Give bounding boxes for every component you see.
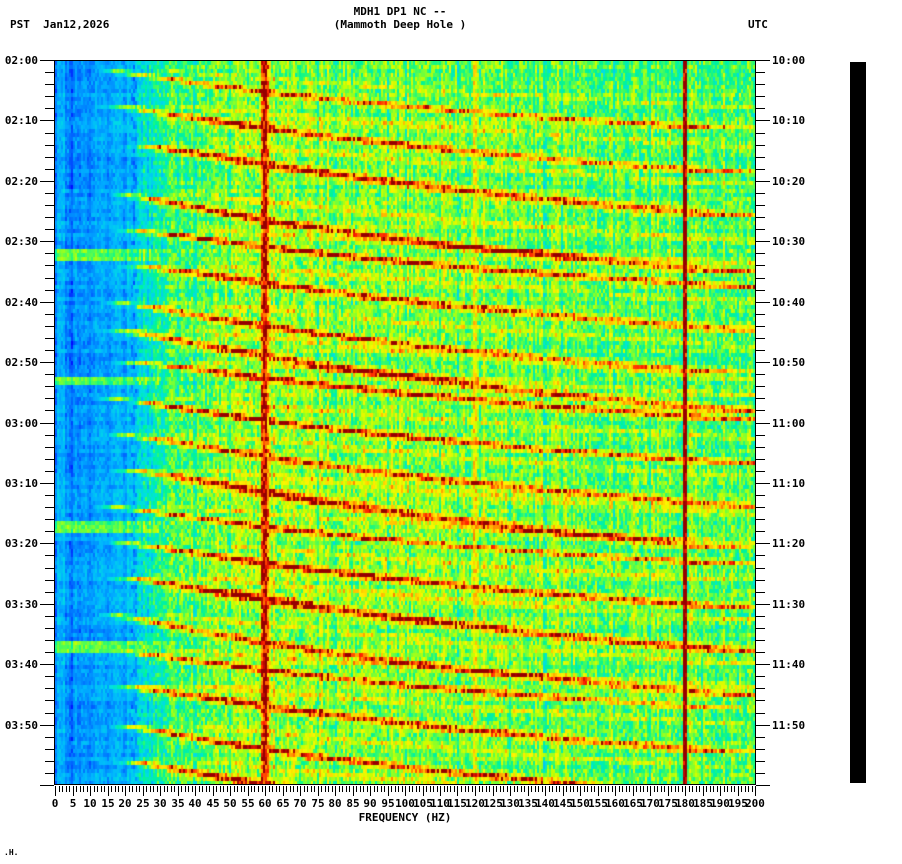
y-tick-minor-left (45, 773, 54, 774)
x-axis-label: 160 (605, 797, 625, 810)
y-tick-major-left (40, 785, 54, 786)
y-tick-minor-left (45, 338, 54, 339)
y-tick-minor-right (756, 326, 765, 327)
corner-mark: .H. (4, 849, 18, 857)
y-tick-major-left (40, 241, 54, 242)
x-axis-label: 70 (293, 797, 306, 810)
x-axis-label: 190 (710, 797, 730, 810)
y-tick-minor-right (756, 471, 765, 472)
x-tick-minor (377, 786, 378, 792)
x-tick-minor (566, 786, 567, 792)
x-axis-label: 40 (188, 797, 201, 810)
x-tick-major (493, 786, 494, 796)
y-tick-minor-left (45, 761, 54, 762)
y-axis-right-label: 11:30 (772, 599, 805, 610)
y-tick-minor-left (45, 278, 54, 279)
y-tick-major-left (40, 483, 54, 484)
x-tick-major (55, 786, 56, 796)
x-tick-major (405, 786, 406, 796)
y-tick-minor-right (756, 676, 765, 677)
y-tick-minor-left (45, 616, 54, 617)
x-tick-minor (531, 786, 532, 792)
y-tick-minor-right (756, 555, 765, 556)
x-tick-minor (486, 786, 487, 792)
x-tick-minor (80, 786, 81, 792)
x-tick-minor (304, 786, 305, 792)
x-tick-minor (559, 786, 560, 792)
x-tick-minor (727, 786, 728, 792)
x-tick-major (528, 786, 529, 796)
x-axis-label: 20 (118, 797, 131, 810)
x-tick-minor (101, 786, 102, 792)
x-tick-minor (87, 786, 88, 792)
y-tick-major-left (40, 120, 54, 121)
y-axis-right-label: 10:10 (772, 115, 805, 126)
x-tick-minor (136, 786, 137, 792)
y-tick-major-left (40, 725, 54, 726)
x-tick-minor (500, 786, 501, 792)
y-tick-minor-left (45, 652, 54, 653)
y-tick-minor-left (45, 628, 54, 629)
x-axis-label: 85 (346, 797, 359, 810)
x-tick-minor (542, 786, 543, 792)
x-tick-minor (584, 786, 585, 792)
y-tick-minor-right (756, 749, 765, 750)
x-tick-minor (496, 786, 497, 792)
x-tick-major (108, 786, 109, 796)
x-axis-label: 10 (83, 797, 96, 810)
x-tick-minor (381, 786, 382, 792)
y-tick-minor-left (45, 108, 54, 109)
y-axis-right-label: 11:00 (772, 418, 805, 429)
y-tick-minor-left (45, 410, 54, 411)
x-tick-minor (717, 786, 718, 792)
y-tick-minor-right (756, 410, 765, 411)
x-tick-minor (269, 786, 270, 792)
x-axis-label: 45 (206, 797, 219, 810)
x-tick-minor (139, 786, 140, 792)
y-axis-right-label: 11:20 (772, 538, 805, 549)
y-tick-minor-right (756, 531, 765, 532)
x-tick-minor (153, 786, 154, 792)
y-tick-major-right (756, 241, 770, 242)
x-tick-major (738, 786, 739, 796)
x-tick-minor (587, 786, 588, 792)
y-tick-major-right (756, 483, 770, 484)
y-tick-minor-left (45, 265, 54, 266)
x-axis-label: 0 (52, 797, 59, 810)
y-axis-left-label: 03:40 (0, 659, 38, 670)
x-tick-major (703, 786, 704, 796)
x-tick-minor (262, 786, 263, 792)
y-tick-minor-right (756, 314, 765, 315)
x-tick-minor (594, 786, 595, 792)
y-tick-minor-right (756, 217, 765, 218)
x-tick-minor (346, 786, 347, 792)
x-tick-major (283, 786, 284, 796)
y-tick-minor-left (45, 471, 54, 472)
y-axis-left-label: 03:30 (0, 599, 38, 610)
y-tick-minor-left (45, 253, 54, 254)
x-tick-minor (503, 786, 504, 792)
x-tick-minor (426, 786, 427, 792)
x-tick-minor (514, 786, 515, 792)
x-tick-minor (447, 786, 448, 792)
x-tick-major (125, 786, 126, 796)
x-tick-minor (363, 786, 364, 792)
x-tick-minor (489, 786, 490, 792)
y-tick-major-left (40, 604, 54, 605)
x-tick-minor (745, 786, 746, 792)
x-tick-minor (209, 786, 210, 792)
x-tick-minor (454, 786, 455, 792)
x-tick-minor (157, 786, 158, 792)
x-tick-major (160, 786, 161, 796)
x-tick-minor (66, 786, 67, 792)
y-tick-minor-right (756, 229, 765, 230)
x-tick-minor (591, 786, 592, 792)
y-axis-right-label: 10:20 (772, 176, 805, 187)
x-tick-major (580, 786, 581, 796)
x-tick-major (370, 786, 371, 796)
x-tick-major (143, 786, 144, 796)
x-tick-major (598, 786, 599, 796)
y-axis-left-label: 03:20 (0, 538, 38, 549)
x-tick-minor (573, 786, 574, 792)
y-tick-minor-left (45, 580, 54, 581)
x-tick-minor (622, 786, 623, 792)
y-tick-major-left (40, 423, 54, 424)
y-tick-minor-left (45, 737, 54, 738)
colorbar (850, 62, 866, 783)
x-tick-minor (430, 786, 431, 792)
x-tick-minor (167, 786, 168, 792)
y-tick-major-right (756, 785, 770, 786)
y-tick-major-right (756, 181, 770, 182)
x-tick-major (457, 786, 458, 796)
x-tick-minor (356, 786, 357, 792)
x-tick-minor (374, 786, 375, 792)
x-tick-minor (724, 786, 725, 792)
x-tick-minor (83, 786, 84, 792)
y-tick-minor-right (756, 350, 765, 351)
x-tick-major (335, 786, 336, 796)
x-tick-minor (314, 786, 315, 792)
x-tick-minor (272, 786, 273, 792)
x-tick-minor (608, 786, 609, 792)
x-tick-minor (69, 786, 70, 792)
y-tick-minor-left (45, 145, 54, 146)
y-tick-minor-left (45, 374, 54, 375)
x-tick-minor (216, 786, 217, 792)
x-tick-minor (339, 786, 340, 792)
x-axis-label: 55 (241, 797, 254, 810)
y-tick-minor-right (756, 519, 765, 520)
x-tick-minor (640, 786, 641, 792)
x-tick-minor (601, 786, 602, 792)
y-tick-minor-right (756, 265, 765, 266)
x-tick-minor (241, 786, 242, 792)
y-tick-minor-left (45, 531, 54, 532)
y-axis-right-label: 10:40 (772, 297, 805, 308)
x-tick-minor (479, 786, 480, 792)
x-axis-label: 35 (171, 797, 184, 810)
y-tick-minor-right (756, 386, 765, 387)
x-tick-minor (437, 786, 438, 792)
x-tick-minor (654, 786, 655, 792)
x-axis-label: 170 (640, 797, 660, 810)
y-tick-minor-right (756, 169, 765, 170)
spectrogram-canvas (55, 61, 755, 785)
x-tick-minor (706, 786, 707, 792)
x-tick-minor (297, 786, 298, 792)
x-tick-major (300, 786, 301, 796)
y-tick-major-left (40, 181, 54, 182)
y-tick-minor-left (45, 447, 54, 448)
x-tick-minor (419, 786, 420, 792)
x-axis-label: 150 (570, 797, 590, 810)
x-tick-minor (556, 786, 557, 792)
x-axis-label: 80 (328, 797, 341, 810)
y-tick-minor-right (756, 700, 765, 701)
y-axis-right-label: 10:50 (772, 357, 805, 368)
x-tick-minor (234, 786, 235, 792)
x-tick-major (178, 786, 179, 796)
x-tick-minor (675, 786, 676, 792)
x-tick-minor (482, 786, 483, 792)
y-axis-left-label: 03:50 (0, 720, 38, 731)
y-tick-minor-left (45, 84, 54, 85)
y-tick-minor-right (756, 459, 765, 460)
x-tick-minor (311, 786, 312, 792)
y-tick-minor-left (45, 749, 54, 750)
y-axis-right-label: 11:10 (772, 478, 805, 489)
x-tick-minor (286, 786, 287, 792)
x-tick-major (615, 786, 616, 796)
y-tick-minor-right (756, 580, 765, 581)
x-tick-major (440, 786, 441, 796)
x-tick-minor (713, 786, 714, 792)
x-tick-major (353, 786, 354, 796)
y-tick-minor-right (756, 435, 765, 436)
x-axis-title: FREQUENCY (HZ) (0, 811, 810, 824)
x-tick-minor (115, 786, 116, 792)
x-tick-minor (367, 786, 368, 792)
x-tick-minor (577, 786, 578, 792)
y-axis-right-label: 11:40 (772, 659, 805, 670)
y-tick-minor-right (756, 713, 765, 714)
x-tick-minor (412, 786, 413, 792)
y-axis-left-label: 02:40 (0, 297, 38, 308)
x-tick-minor (328, 786, 329, 792)
y-axis-left-line (54, 60, 55, 785)
y-tick-minor-left (45, 688, 54, 689)
y-tick-major-right (756, 543, 770, 544)
y-tick-minor-left (45, 713, 54, 714)
x-tick-minor (416, 786, 417, 792)
y-tick-minor-left (45, 229, 54, 230)
x-tick-minor (132, 786, 133, 792)
x-tick-minor (220, 786, 221, 792)
x-tick-major (248, 786, 249, 796)
y-axis-left-label: 02:20 (0, 176, 38, 187)
y-tick-minor-right (756, 761, 765, 762)
y-tick-minor-right (756, 737, 765, 738)
y-tick-major-right (756, 302, 770, 303)
x-tick-minor (682, 786, 683, 792)
x-tick-minor (181, 786, 182, 792)
y-tick-minor-right (756, 507, 765, 508)
y-tick-minor-right (756, 278, 765, 279)
x-tick-minor (741, 786, 742, 792)
y-tick-minor-left (45, 205, 54, 206)
y-tick-major-left (40, 60, 54, 61)
x-tick-minor (122, 786, 123, 792)
x-tick-minor (199, 786, 200, 792)
y-tick-minor-left (45, 435, 54, 436)
y-axis-left-label: 03:10 (0, 478, 38, 489)
y-tick-minor-right (756, 628, 765, 629)
x-tick-minor (227, 786, 228, 792)
y-tick-minor-right (756, 145, 765, 146)
y-tick-minor-right (756, 640, 765, 641)
x-axis-label: 50 (223, 797, 236, 810)
x-axis-label: 60 (258, 797, 271, 810)
x-tick-minor (391, 786, 392, 792)
x-tick-major (195, 786, 196, 796)
x-tick-minor (349, 786, 350, 792)
x-tick-minor (59, 786, 60, 792)
y-tick-minor-left (45, 676, 54, 677)
y-tick-major-right (756, 120, 770, 121)
x-tick-minor (517, 786, 518, 792)
x-axis-label: 25 (136, 797, 149, 810)
y-tick-minor-left (45, 640, 54, 641)
y-tick-minor-right (756, 72, 765, 73)
x-tick-minor (146, 786, 147, 792)
y-tick-minor-right (756, 84, 765, 85)
y-tick-minor-right (756, 652, 765, 653)
y-tick-minor-right (756, 447, 765, 448)
x-tick-minor (521, 786, 522, 792)
x-tick-minor (206, 786, 207, 792)
x-tick-major (475, 786, 476, 796)
x-tick-minor (647, 786, 648, 792)
x-axis-label: 130 (500, 797, 520, 810)
y-tick-minor-left (45, 386, 54, 387)
x-tick-minor (734, 786, 735, 792)
y-tick-major-left (40, 664, 54, 665)
x-tick-minor (384, 786, 385, 792)
header-timezone-utc: UTC (748, 18, 768, 31)
x-tick-minor (671, 786, 672, 792)
x-tick-minor (731, 786, 732, 792)
x-tick-major (633, 786, 634, 796)
x-tick-minor (104, 786, 105, 792)
x-axis-label: 120 (465, 797, 485, 810)
y-tick-minor-left (45, 169, 54, 170)
y-tick-minor-left (45, 314, 54, 315)
x-tick-minor (552, 786, 553, 792)
y-tick-minor-right (756, 157, 765, 158)
x-tick-minor (696, 786, 697, 792)
x-tick-minor (62, 786, 63, 792)
x-tick-minor (321, 786, 322, 792)
y-tick-minor-left (45, 217, 54, 218)
x-tick-minor (570, 786, 571, 792)
x-tick-minor (752, 786, 753, 792)
y-axis-right-label: 11:50 (772, 720, 805, 731)
y-tick-major-right (756, 362, 770, 363)
x-tick-major (423, 786, 424, 796)
y-tick-minor-left (45, 72, 54, 73)
x-tick-minor (94, 786, 95, 792)
y-tick-minor-left (45, 459, 54, 460)
x-tick-minor (433, 786, 434, 792)
y-tick-minor-left (45, 700, 54, 701)
y-tick-minor-left (45, 193, 54, 194)
y-axis-left-label: 02:10 (0, 115, 38, 126)
x-tick-minor (538, 786, 539, 792)
x-tick-minor (461, 786, 462, 792)
y-tick-minor-left (45, 555, 54, 556)
x-tick-minor (619, 786, 620, 792)
x-tick-minor (332, 786, 333, 792)
x-tick-major (230, 786, 231, 796)
x-tick-major (755, 786, 756, 796)
x-tick-minor (450, 786, 451, 792)
x-axis-label: 65 (276, 797, 289, 810)
y-tick-minor-right (756, 253, 765, 254)
y-axis-right-label: 10:00 (772, 55, 805, 66)
y-tick-minor-right (756, 133, 765, 134)
y-tick-minor-right (756, 568, 765, 569)
x-tick-minor (307, 786, 308, 792)
y-tick-minor-right (756, 290, 765, 291)
x-tick-minor (398, 786, 399, 792)
x-tick-major (650, 786, 651, 796)
spectrogram-plot[interactable] (55, 60, 755, 785)
x-tick-minor (129, 786, 130, 792)
x-tick-minor (254, 786, 255, 792)
y-tick-minor-left (45, 157, 54, 158)
x-tick-minor (710, 786, 711, 792)
x-tick-major (563, 786, 564, 796)
x-tick-minor (444, 786, 445, 792)
x-tick-minor (111, 786, 112, 792)
x-tick-minor (279, 786, 280, 792)
x-tick-major (388, 786, 389, 796)
x-tick-minor (657, 786, 658, 792)
y-axis-right-label: 10:30 (772, 236, 805, 247)
x-tick-minor (276, 786, 277, 792)
x-tick-minor (360, 786, 361, 792)
y-tick-minor-left (45, 133, 54, 134)
y-axis-left-label: 02:00 (0, 55, 38, 66)
y-axis-left-label: 03:00 (0, 418, 38, 429)
y-tick-minor-right (756, 592, 765, 593)
x-tick-minor (748, 786, 749, 792)
x-tick-minor (678, 786, 679, 792)
x-tick-minor (465, 786, 466, 792)
page-title: MDH1 DP1 NC -- (0, 5, 800, 18)
y-tick-major-left (40, 362, 54, 363)
x-tick-minor (237, 786, 238, 792)
x-tick-minor (251, 786, 252, 792)
y-tick-major-left (40, 302, 54, 303)
x-tick-minor (202, 786, 203, 792)
x-tick-major (265, 786, 266, 796)
